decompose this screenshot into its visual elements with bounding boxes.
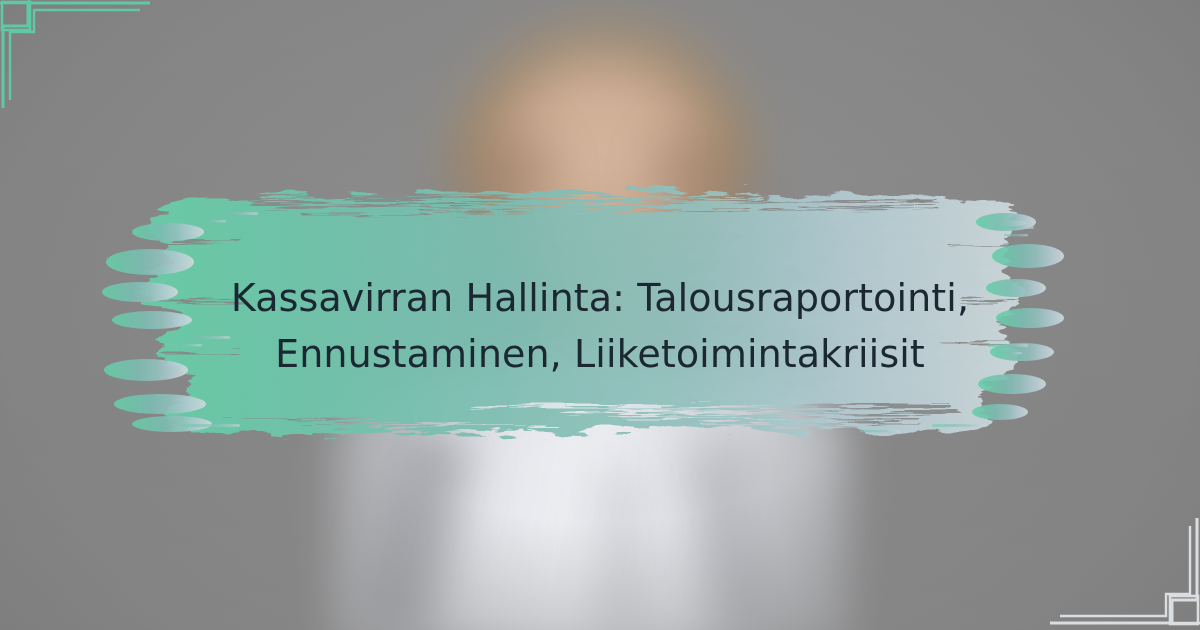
title-line-1: Kassavirran Hallinta: Talousraportointi, (180, 270, 1020, 326)
card-title: Kassavirran Hallinta: Talousraportointi,… (180, 270, 1020, 382)
corner-bracket-bottom-right (1000, 466, 1200, 630)
share-card-canvas: Kassavirran Hallinta: Talousraportointi,… (0, 0, 1200, 630)
corner-bracket-top-left (0, 0, 200, 164)
title-line-2: Ennustaminen, Liiketoimintakriisit (180, 326, 1020, 382)
